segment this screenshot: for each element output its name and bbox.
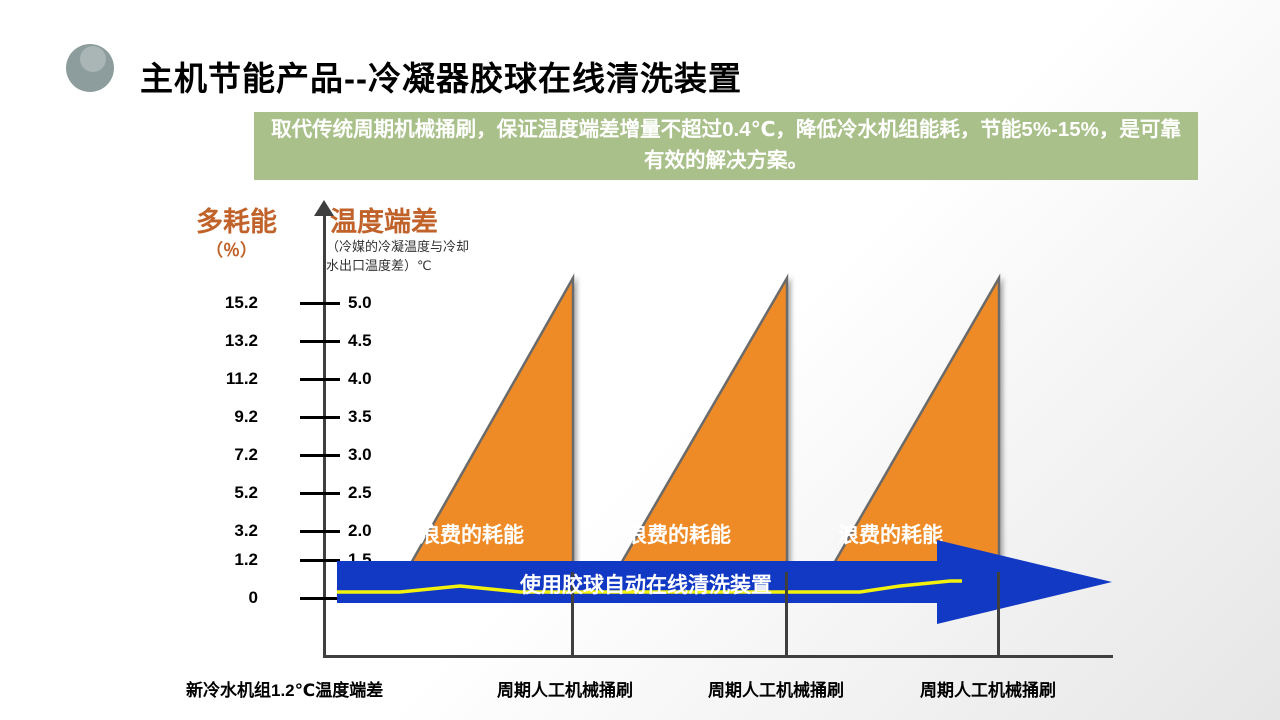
x-tick-line-3 [785,572,788,657]
waste-label-3: 浪费的耗能 [838,519,943,549]
x-axis-caption-2: 周期人工机械捅刷 [497,676,633,701]
waste-label-1: 浪费的耗能 [419,519,524,549]
x-axis-caption-1: 新冷水机组1.2℃温度端差 [186,676,383,701]
x-tick-line-4 [997,572,1000,657]
x-axis-caption-3: 周期人工机械捅刷 [708,676,844,701]
waste-label-2: 浪费的耗能 [626,519,731,549]
blue-band-label: 使用胶球自动在线清洗装置 [520,569,772,599]
x-axis-caption-4: 周期人工机械捅刷 [920,676,1056,701]
blue-arrow-head-icon [937,540,1112,624]
